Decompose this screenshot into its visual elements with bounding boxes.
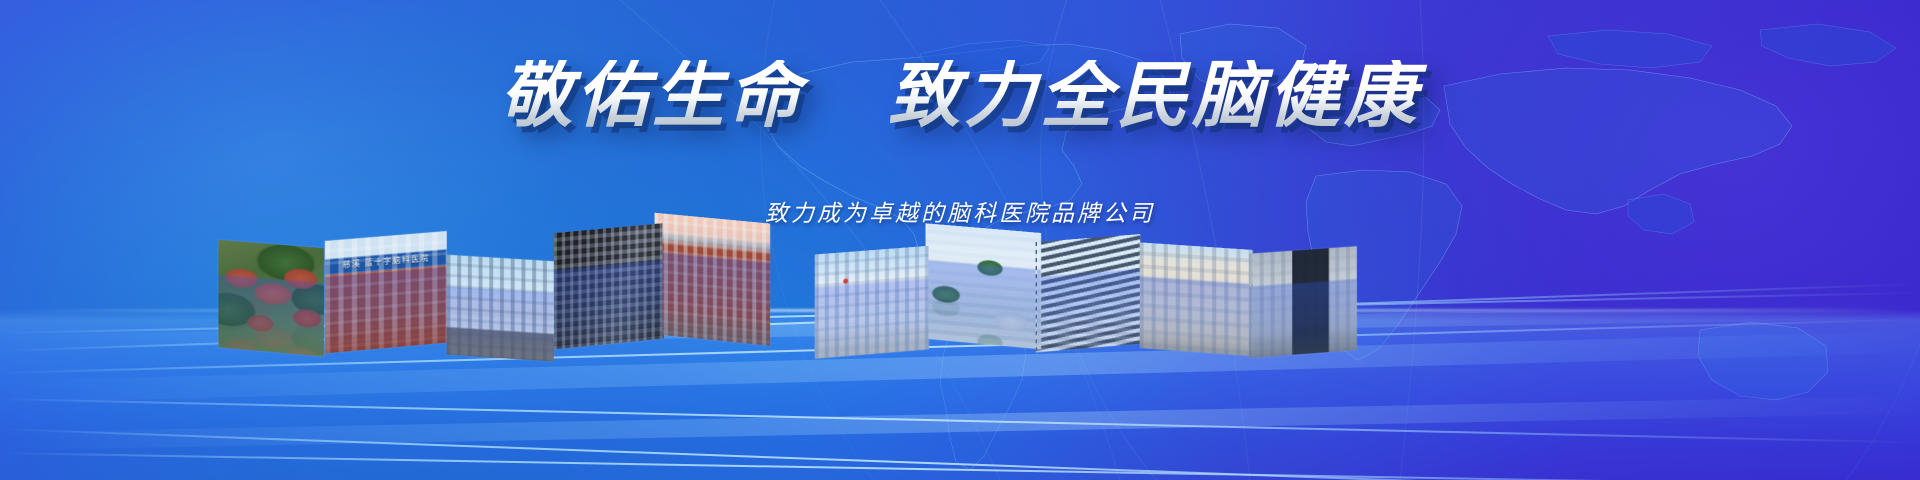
page-title: 敬佑生命 致力全民脑健康 (0, 60, 1920, 132)
carousel-photo-reflection (325, 267, 447, 354)
headline-part-2: 致力全民脑健康 (888, 56, 1420, 136)
carousel-photo-1[interactable] (218, 240, 324, 357)
carousel-photo-reflection (218, 274, 324, 356)
carousel-photo-reflection (1035, 269, 1140, 352)
carousel-photo-2[interactable]: 慈溪 蓝十字脑科医院 (325, 231, 447, 353)
carousel-photo-reflection (554, 260, 664, 349)
carousel-photo-3[interactable] (447, 255, 554, 362)
carousel-photo-10[interactable] (1249, 246, 1357, 358)
carousel-photo-reflection (925, 260, 1041, 349)
carousel-photo-reflection (1249, 279, 1357, 358)
carousel-photo-reflection (1140, 276, 1253, 356)
carousel-photo-reflection (447, 287, 554, 362)
headline-part-1: 敬佑生命 (500, 56, 804, 136)
carousel-photo-6[interactable] (815, 246, 929, 359)
carousel-photo-reflection (815, 279, 929, 359)
page-subtitle: 致力成为卓越的脑科医院品牌公司 (0, 200, 1920, 228)
carousel-photo-9[interactable] (1140, 242, 1253, 356)
carousel-photo-7[interactable] (925, 223, 1041, 349)
carousel-photo-reflection (654, 251, 770, 345)
hospital-photo-carousel: 慈溪 蓝十字脑科医院 (0, 228, 1920, 348)
hero-banner: 敬佑生命 致力全民脑健康 致力成为卓越的脑科医院品牌公司 慈溪 蓝十字脑科医院 (0, 0, 1920, 480)
carousel-photo-4[interactable] (554, 223, 664, 349)
carousel-photo-5[interactable] (654, 213, 770, 346)
carousel-photo-8[interactable] (1035, 234, 1140, 352)
